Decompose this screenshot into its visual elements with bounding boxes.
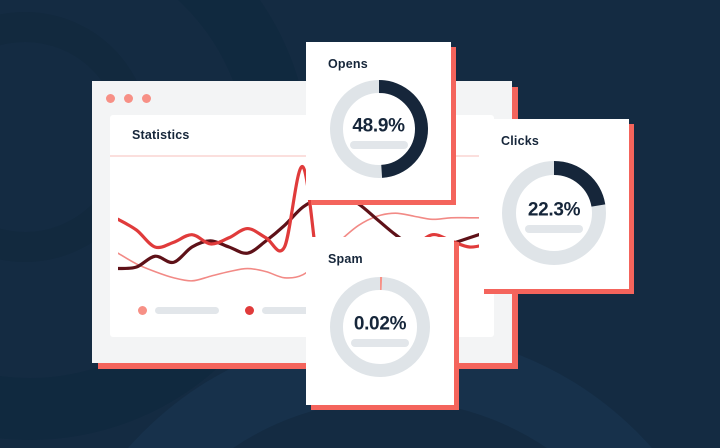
metric-card-title: Clicks bbox=[501, 134, 539, 148]
metric-card-opens[interactable]: Opens 48.9% bbox=[306, 42, 451, 200]
donut-chart-opens: 48.9% bbox=[306, 80, 451, 178]
metric-subtitle-placeholder bbox=[350, 141, 408, 149]
metric-card-spam[interactable]: Spam 0.02% bbox=[306, 237, 454, 405]
metric-card-title: Opens bbox=[328, 57, 368, 71]
window-minimize-dot-icon[interactable] bbox=[124, 94, 133, 103]
legend-dot-icon bbox=[245, 306, 254, 315]
metric-subtitle-placeholder bbox=[351, 339, 409, 347]
metric-value: 22.3% bbox=[502, 199, 606, 221]
metric-subtitle-placeholder bbox=[525, 225, 583, 233]
legend-dot-icon bbox=[138, 306, 147, 315]
donut-chart-clicks: 22.3% bbox=[479, 161, 629, 265]
page-title: Statistics bbox=[132, 128, 190, 142]
screenshot-stage: Statistics bbox=[0, 0, 720, 448]
metric-value: 48.9% bbox=[330, 115, 428, 137]
metric-value: 0.02% bbox=[330, 313, 430, 335]
legend-item[interactable] bbox=[138, 306, 219, 315]
metric-card-title: Spam bbox=[328, 252, 363, 266]
window-close-dot-icon[interactable] bbox=[106, 94, 115, 103]
donut-chart-spam: 0.02% bbox=[306, 277, 454, 377]
legend-label-placeholder bbox=[155, 307, 219, 314]
metric-card-clicks[interactable]: Clicks 22.3% bbox=[479, 119, 629, 289]
window-maximize-dot-icon[interactable] bbox=[142, 94, 151, 103]
